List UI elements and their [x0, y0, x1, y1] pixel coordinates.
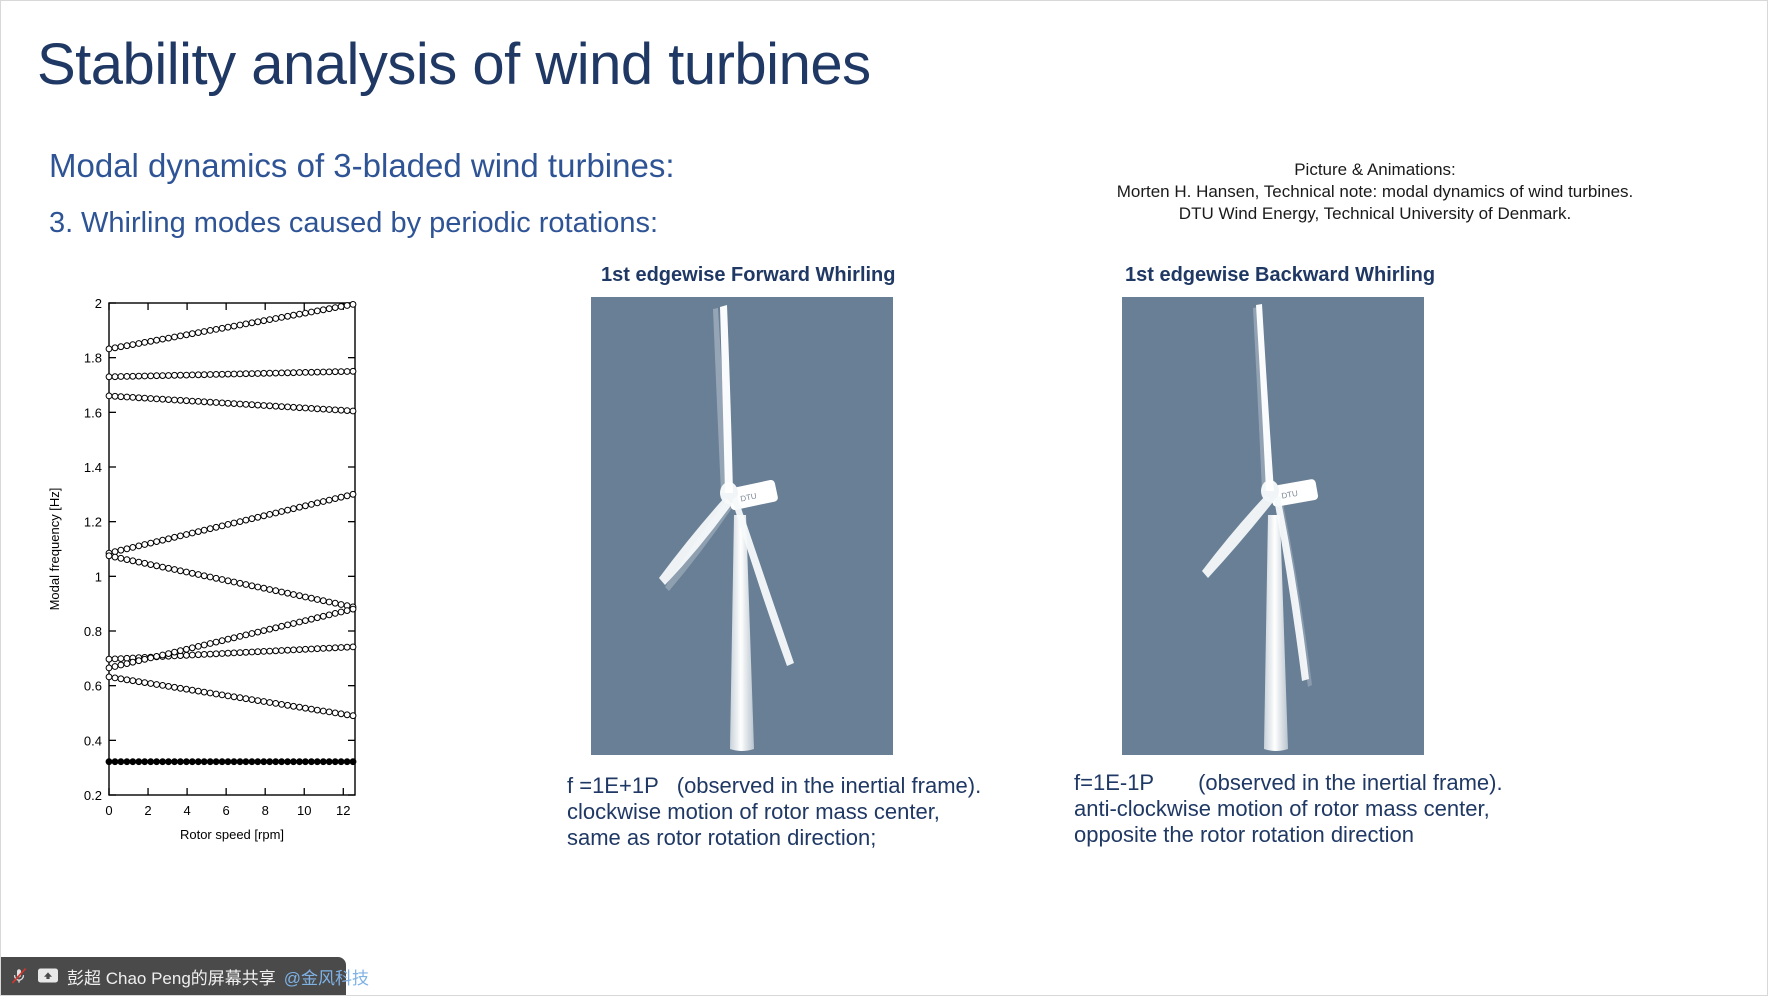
- data-marker: [243, 402, 249, 408]
- data-marker: [201, 372, 207, 378]
- series-mode-7: [106, 491, 356, 556]
- data-marker: [314, 500, 320, 506]
- data-marker: [166, 536, 172, 542]
- data-marker: [332, 759, 338, 765]
- data-marker: [291, 312, 297, 318]
- data-marker: [350, 408, 356, 414]
- data-marker: [249, 371, 255, 377]
- data-marker: [189, 570, 195, 576]
- data-marker: [207, 399, 213, 405]
- data-marker: [273, 510, 279, 516]
- data-marker: [201, 399, 207, 405]
- data-marker: [338, 407, 344, 413]
- data-marker: [326, 612, 332, 618]
- turbine-illustration-forward: DTU: [591, 297, 893, 755]
- data-marker: [326, 306, 332, 312]
- data-marker: [249, 402, 255, 408]
- data-marker: [338, 494, 344, 500]
- data-marker: [189, 331, 195, 337]
- data-marker: [332, 305, 338, 311]
- data-marker: [201, 329, 207, 335]
- data-marker: [285, 647, 291, 653]
- data-marker: [136, 395, 142, 401]
- data-marker: [154, 539, 160, 545]
- data-marker: [309, 616, 315, 622]
- data-marker: [178, 568, 184, 574]
- data-marker: [106, 346, 112, 352]
- data-marker: [184, 646, 190, 652]
- data-marker: [219, 651, 225, 657]
- data-marker: [255, 759, 261, 765]
- data-marker: [350, 368, 356, 374]
- data-marker: [148, 540, 154, 546]
- data-marker: [279, 759, 285, 765]
- credit-block: Picture & Animations: Morten H. Hansen, …: [1025, 159, 1725, 225]
- data-marker: [309, 369, 315, 375]
- data-marker: [255, 698, 261, 704]
- data-marker: [291, 759, 297, 765]
- data-marker: [261, 649, 267, 655]
- data-marker: [106, 374, 112, 380]
- data-marker: [142, 680, 148, 686]
- data-marker: [172, 567, 178, 573]
- data-marker: [326, 369, 332, 375]
- data-marker: [118, 662, 124, 668]
- data-marker: [160, 537, 166, 543]
- data-marker: [243, 632, 249, 638]
- data-marker: [166, 684, 172, 690]
- blade-lower-left: [1202, 495, 1273, 578]
- data-marker: [118, 759, 124, 765]
- data-marker: [249, 516, 255, 522]
- data-marker: [326, 759, 332, 765]
- data-marker: [243, 759, 249, 765]
- data-marker: [225, 371, 231, 377]
- data-marker: [154, 337, 160, 343]
- data-marker: [207, 372, 213, 378]
- data-marker: [201, 759, 207, 765]
- data-marker: [219, 638, 225, 644]
- data-marker: [291, 621, 297, 627]
- data-marker: [189, 398, 195, 404]
- data-marker: [273, 316, 279, 322]
- data-marker: [309, 595, 315, 601]
- data-marker: [344, 608, 350, 614]
- data-marker: [344, 712, 350, 718]
- data-marker: [350, 302, 356, 308]
- panel-heading-forward: 1st edgewise Forward Whirling: [601, 264, 896, 287]
- y-tick-label: 2: [95, 296, 102, 311]
- data-marker: [291, 703, 297, 709]
- data-marker: [172, 759, 178, 765]
- series-mode-10: [106, 302, 356, 352]
- data-marker: [332, 369, 338, 375]
- data-marker: [261, 699, 267, 705]
- data-marker: [130, 759, 136, 765]
- data-marker: [225, 759, 231, 765]
- data-marker: [243, 649, 249, 655]
- data-marker: [213, 759, 219, 765]
- data-marker: [136, 679, 142, 685]
- data-marker: [249, 631, 255, 637]
- data-marker: [207, 526, 213, 532]
- campbell-diagram-chart: 0.20.40.60.811.21.41.61.82024681012Rotor…: [37, 289, 367, 859]
- data-marker: [124, 546, 130, 552]
- data-marker: [303, 759, 309, 765]
- screen-share-taskbar[interactable]: 彭超 Chao Peng的屏幕共享 @金风科技: [1, 957, 346, 995]
- data-marker: [160, 564, 166, 570]
- data-marker: [189, 759, 195, 765]
- data-marker: [160, 652, 166, 658]
- data-marker: [219, 759, 225, 765]
- data-marker: [166, 651, 172, 657]
- data-marker: [314, 759, 320, 765]
- data-marker: [237, 695, 243, 701]
- data-marker: [338, 609, 344, 615]
- data-marker: [279, 315, 285, 321]
- data-marker: [172, 649, 178, 655]
- data-marker: [237, 371, 243, 377]
- data-marker: [178, 372, 184, 378]
- data-marker: [309, 309, 315, 315]
- data-marker: [303, 618, 309, 624]
- data-marker: [255, 629, 261, 635]
- data-marker: [142, 340, 148, 346]
- data-marker: [160, 396, 166, 402]
- data-marker: [273, 625, 279, 631]
- series-mode-9: [106, 368, 356, 379]
- data-marker: [261, 585, 267, 591]
- data-marker: [326, 599, 332, 605]
- data-marker: [142, 542, 148, 548]
- bullet-number: 3.: [49, 207, 81, 240]
- data-marker: [136, 658, 142, 664]
- data-marker: [195, 330, 201, 336]
- data-marker: [130, 678, 136, 684]
- data-marker: [142, 656, 148, 662]
- data-marker: [142, 759, 148, 765]
- data-marker: [237, 322, 243, 328]
- y-tick-label: 1.4: [84, 460, 102, 475]
- data-marker: [303, 594, 309, 600]
- data-marker: [213, 651, 219, 657]
- data-marker: [219, 692, 225, 698]
- data-marker: [124, 557, 130, 563]
- data-marker: [249, 649, 255, 655]
- data-marker: [332, 710, 338, 716]
- credit-line-1: Picture & Animations:: [1025, 159, 1725, 181]
- x-tick-label: 0: [105, 803, 112, 818]
- data-marker: [136, 373, 142, 379]
- data-marker: [225, 693, 231, 699]
- data-marker: [279, 370, 285, 376]
- data-marker: [207, 690, 213, 696]
- data-marker: [112, 345, 118, 351]
- data-marker: [118, 547, 124, 553]
- data-marker: [243, 696, 249, 702]
- data-marker: [148, 562, 154, 568]
- data-marker: [267, 370, 273, 376]
- data-marker: [118, 394, 124, 400]
- data-marker: [124, 759, 130, 765]
- data-marker: [243, 582, 249, 588]
- data-marker: [213, 372, 219, 378]
- series-mode-4: [106, 606, 356, 671]
- data-marker: [130, 545, 136, 551]
- data-marker: [261, 628, 267, 634]
- y-tick-label: 1.8: [84, 351, 102, 366]
- data-marker: [267, 587, 273, 593]
- data-marker: [249, 320, 255, 326]
- series-mode-3: [106, 674, 356, 719]
- data-marker: [338, 369, 344, 375]
- caption-forward-line2: clockwise motion of rotor mass center,: [567, 799, 981, 825]
- x-tick-label: 10: [297, 803, 311, 818]
- data-marker: [195, 399, 201, 405]
- data-marker: [297, 759, 303, 765]
- y-axis-label: Modal frequency [Hz]: [47, 488, 62, 611]
- data-marker: [219, 400, 225, 406]
- data-marker: [166, 759, 172, 765]
- data-marker: [172, 534, 178, 540]
- data-marker: [207, 759, 213, 765]
- data-marker: [106, 393, 112, 399]
- data-marker: [160, 683, 166, 689]
- data-marker: [249, 697, 255, 703]
- data-marker: [213, 400, 219, 406]
- data-marker: [207, 641, 213, 647]
- data-marker: [172, 684, 178, 690]
- data-marker: [225, 324, 231, 330]
- data-marker: [154, 563, 160, 569]
- data-marker: [154, 682, 160, 688]
- y-tick-label: 0.4: [84, 733, 102, 748]
- data-marker: [213, 327, 219, 333]
- data-marker: [344, 644, 350, 650]
- data-marker: [178, 685, 184, 691]
- data-marker: [225, 400, 231, 406]
- screen-share-icon[interactable]: [37, 967, 59, 985]
- data-marker: [297, 619, 303, 625]
- subtitle-heading: Modal dynamics of 3-bladed wind turbines…: [49, 147, 675, 185]
- x-axis-label: Rotor speed [rpm]: [180, 827, 284, 842]
- data-marker: [285, 370, 291, 376]
- data-marker: [213, 639, 219, 645]
- data-marker: [314, 615, 320, 621]
- data-marker: [285, 313, 291, 319]
- data-marker: [154, 759, 160, 765]
- data-marker: [237, 650, 243, 656]
- data-marker: [326, 407, 332, 413]
- data-marker: [213, 575, 219, 581]
- data-marker: [213, 691, 219, 697]
- data-marker: [273, 370, 279, 376]
- data-marker: [279, 509, 285, 515]
- data-marker: [350, 759, 356, 765]
- data-marker: [285, 759, 291, 765]
- data-marker: [172, 334, 178, 340]
- data-marker: [303, 705, 309, 711]
- data-marker: [320, 307, 326, 313]
- data-marker: [279, 623, 285, 629]
- data-marker: [130, 659, 136, 665]
- data-marker: [297, 405, 303, 411]
- caption-backward-formula: f=1E-1P: [1074, 770, 1154, 795]
- data-marker: [207, 651, 213, 657]
- data-marker: [285, 590, 291, 596]
- data-marker: [166, 335, 172, 341]
- data-marker: [243, 321, 249, 327]
- data-marker: [273, 701, 279, 707]
- data-marker: [297, 370, 303, 376]
- data-marker: [255, 319, 261, 325]
- data-marker: [314, 369, 320, 375]
- data-marker: [124, 343, 130, 349]
- data-marker: [231, 323, 237, 329]
- x-tick-label: 12: [336, 803, 350, 818]
- data-marker: [314, 707, 320, 713]
- y-tick-label: 0.6: [84, 679, 102, 694]
- data-marker: [166, 373, 172, 379]
- data-marker: [320, 369, 326, 375]
- data-marker: [344, 369, 350, 375]
- data-marker: [178, 397, 184, 403]
- data-marker: [112, 759, 118, 765]
- data-marker: [267, 403, 273, 409]
- data-marker: [184, 398, 190, 404]
- data-marker: [273, 759, 279, 765]
- data-marker: [291, 370, 297, 376]
- data-marker: [148, 759, 154, 765]
- data-marker: [219, 371, 225, 377]
- share-status-text: 彭超 Chao Peng的屏幕共享: [67, 964, 276, 989]
- data-marker: [291, 506, 297, 512]
- mic-muted-icon[interactable]: [9, 966, 29, 986]
- share-org-label: @金风科技: [284, 964, 369, 989]
- data-marker: [106, 759, 112, 765]
- data-marker: [255, 649, 261, 655]
- y-tick-label: 0.8: [84, 624, 102, 639]
- data-marker: [237, 634, 243, 640]
- data-marker: [118, 555, 124, 561]
- data-marker: [189, 652, 195, 658]
- data-marker: [148, 373, 154, 379]
- data-marker: [267, 648, 273, 654]
- x-tick-label: 2: [144, 803, 151, 818]
- data-marker: [142, 373, 148, 379]
- data-marker: [189, 687, 195, 693]
- data-marker: [344, 303, 350, 309]
- data-marker: [297, 504, 303, 510]
- data-marker: [118, 676, 124, 682]
- data-marker: [320, 708, 326, 714]
- data-marker: [261, 370, 267, 376]
- data-marker: [279, 702, 285, 708]
- data-marker: [130, 558, 136, 564]
- data-marker: [273, 403, 279, 409]
- data-marker: [195, 759, 201, 765]
- data-marker: [148, 655, 154, 661]
- data-marker: [255, 514, 261, 520]
- data-marker: [243, 517, 249, 523]
- data-marker: [219, 325, 225, 331]
- data-marker: [279, 404, 285, 410]
- data-marker: [255, 402, 261, 408]
- data-marker: [154, 373, 160, 379]
- series-mode-8: [106, 393, 356, 414]
- data-marker: [350, 713, 356, 719]
- data-marker: [118, 374, 124, 380]
- data-marker: [195, 529, 201, 535]
- data-marker: [231, 371, 237, 377]
- data-marker: [124, 677, 130, 683]
- data-marker: [320, 598, 326, 604]
- data-marker: [243, 371, 249, 377]
- y-tick-label: 1.2: [84, 515, 102, 530]
- data-marker: [297, 704, 303, 710]
- data-marker: [225, 650, 231, 656]
- data-marker: [207, 328, 213, 334]
- data-marker: [154, 654, 160, 660]
- data-marker: [154, 396, 160, 402]
- data-marker: [106, 656, 112, 662]
- blade-ghost-b: [665, 499, 734, 591]
- data-marker: [314, 308, 320, 314]
- y-tick-label: 0.2: [84, 788, 102, 803]
- data-marker: [285, 404, 291, 410]
- data-marker: [309, 646, 315, 652]
- data-marker: [160, 336, 166, 342]
- data-marker: [338, 645, 344, 651]
- data-marker: [201, 642, 207, 648]
- data-marker: [213, 524, 219, 530]
- data-marker: [184, 652, 190, 658]
- data-marker: [118, 344, 124, 350]
- data-marker: [320, 613, 326, 619]
- data-marker: [309, 706, 315, 712]
- data-marker: [309, 502, 315, 508]
- data-marker: [195, 372, 201, 378]
- data-marker: [184, 372, 190, 378]
- data-marker: [178, 533, 184, 539]
- data-marker: [261, 759, 267, 765]
- data-marker: [303, 405, 309, 411]
- data-marker: [231, 401, 237, 407]
- data-marker: [231, 759, 237, 765]
- data-marker: [297, 647, 303, 653]
- data-marker: [273, 648, 279, 654]
- caption-forward-line1: f =1E+1P(observed in the inertial frame)…: [567, 773, 981, 799]
- data-marker: [237, 759, 243, 765]
- data-marker: [231, 635, 237, 641]
- data-marker: [231, 520, 237, 526]
- data-marker: [309, 406, 315, 412]
- data-marker: [195, 572, 201, 578]
- data-marker: [136, 559, 142, 565]
- data-marker: [332, 496, 338, 502]
- data-marker: [112, 374, 118, 380]
- data-marker: [172, 372, 178, 378]
- data-marker: [130, 395, 136, 401]
- data-marker: [320, 759, 326, 765]
- panel-heading-backward: 1st edgewise Backward Whirling: [1125, 264, 1435, 287]
- data-marker: [184, 686, 190, 692]
- data-marker: [189, 645, 195, 651]
- data-marker: [201, 527, 207, 533]
- data-marker: [166, 397, 172, 403]
- data-marker: [148, 338, 154, 344]
- data-marker: [303, 370, 309, 376]
